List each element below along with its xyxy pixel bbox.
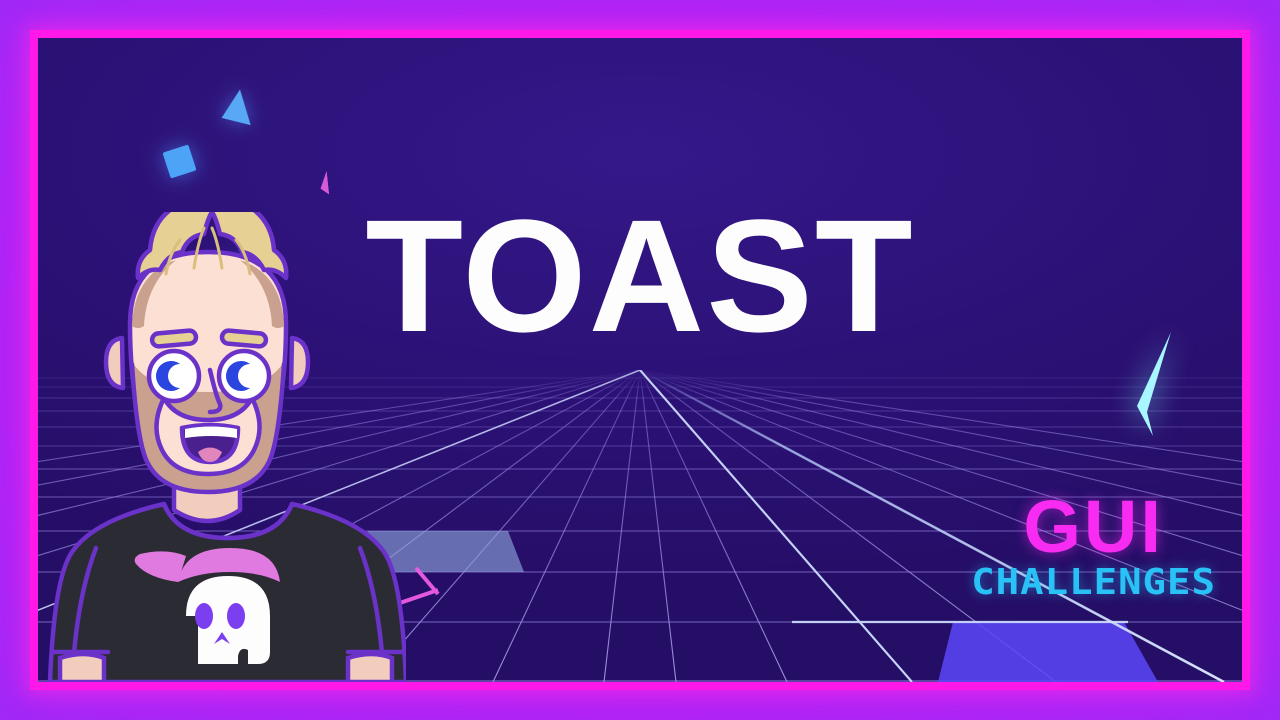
inner-scene: TOAST GUI CHALLENGES <box>38 38 1242 682</box>
gui-challenges-logo: GUI CHALLENGES <box>971 493 1216 604</box>
logo-line-challenges: CHALLENGES <box>971 565 1216 603</box>
logo-line-gui: GUI <box>971 493 1216 561</box>
grid-highlight-tile-right <box>938 622 1158 682</box>
avatar-svg <box>46 212 406 682</box>
avatar <box>46 212 406 682</box>
video-thumbnail-stage: TOAST GUI CHALLENGES <box>0 0 1280 720</box>
